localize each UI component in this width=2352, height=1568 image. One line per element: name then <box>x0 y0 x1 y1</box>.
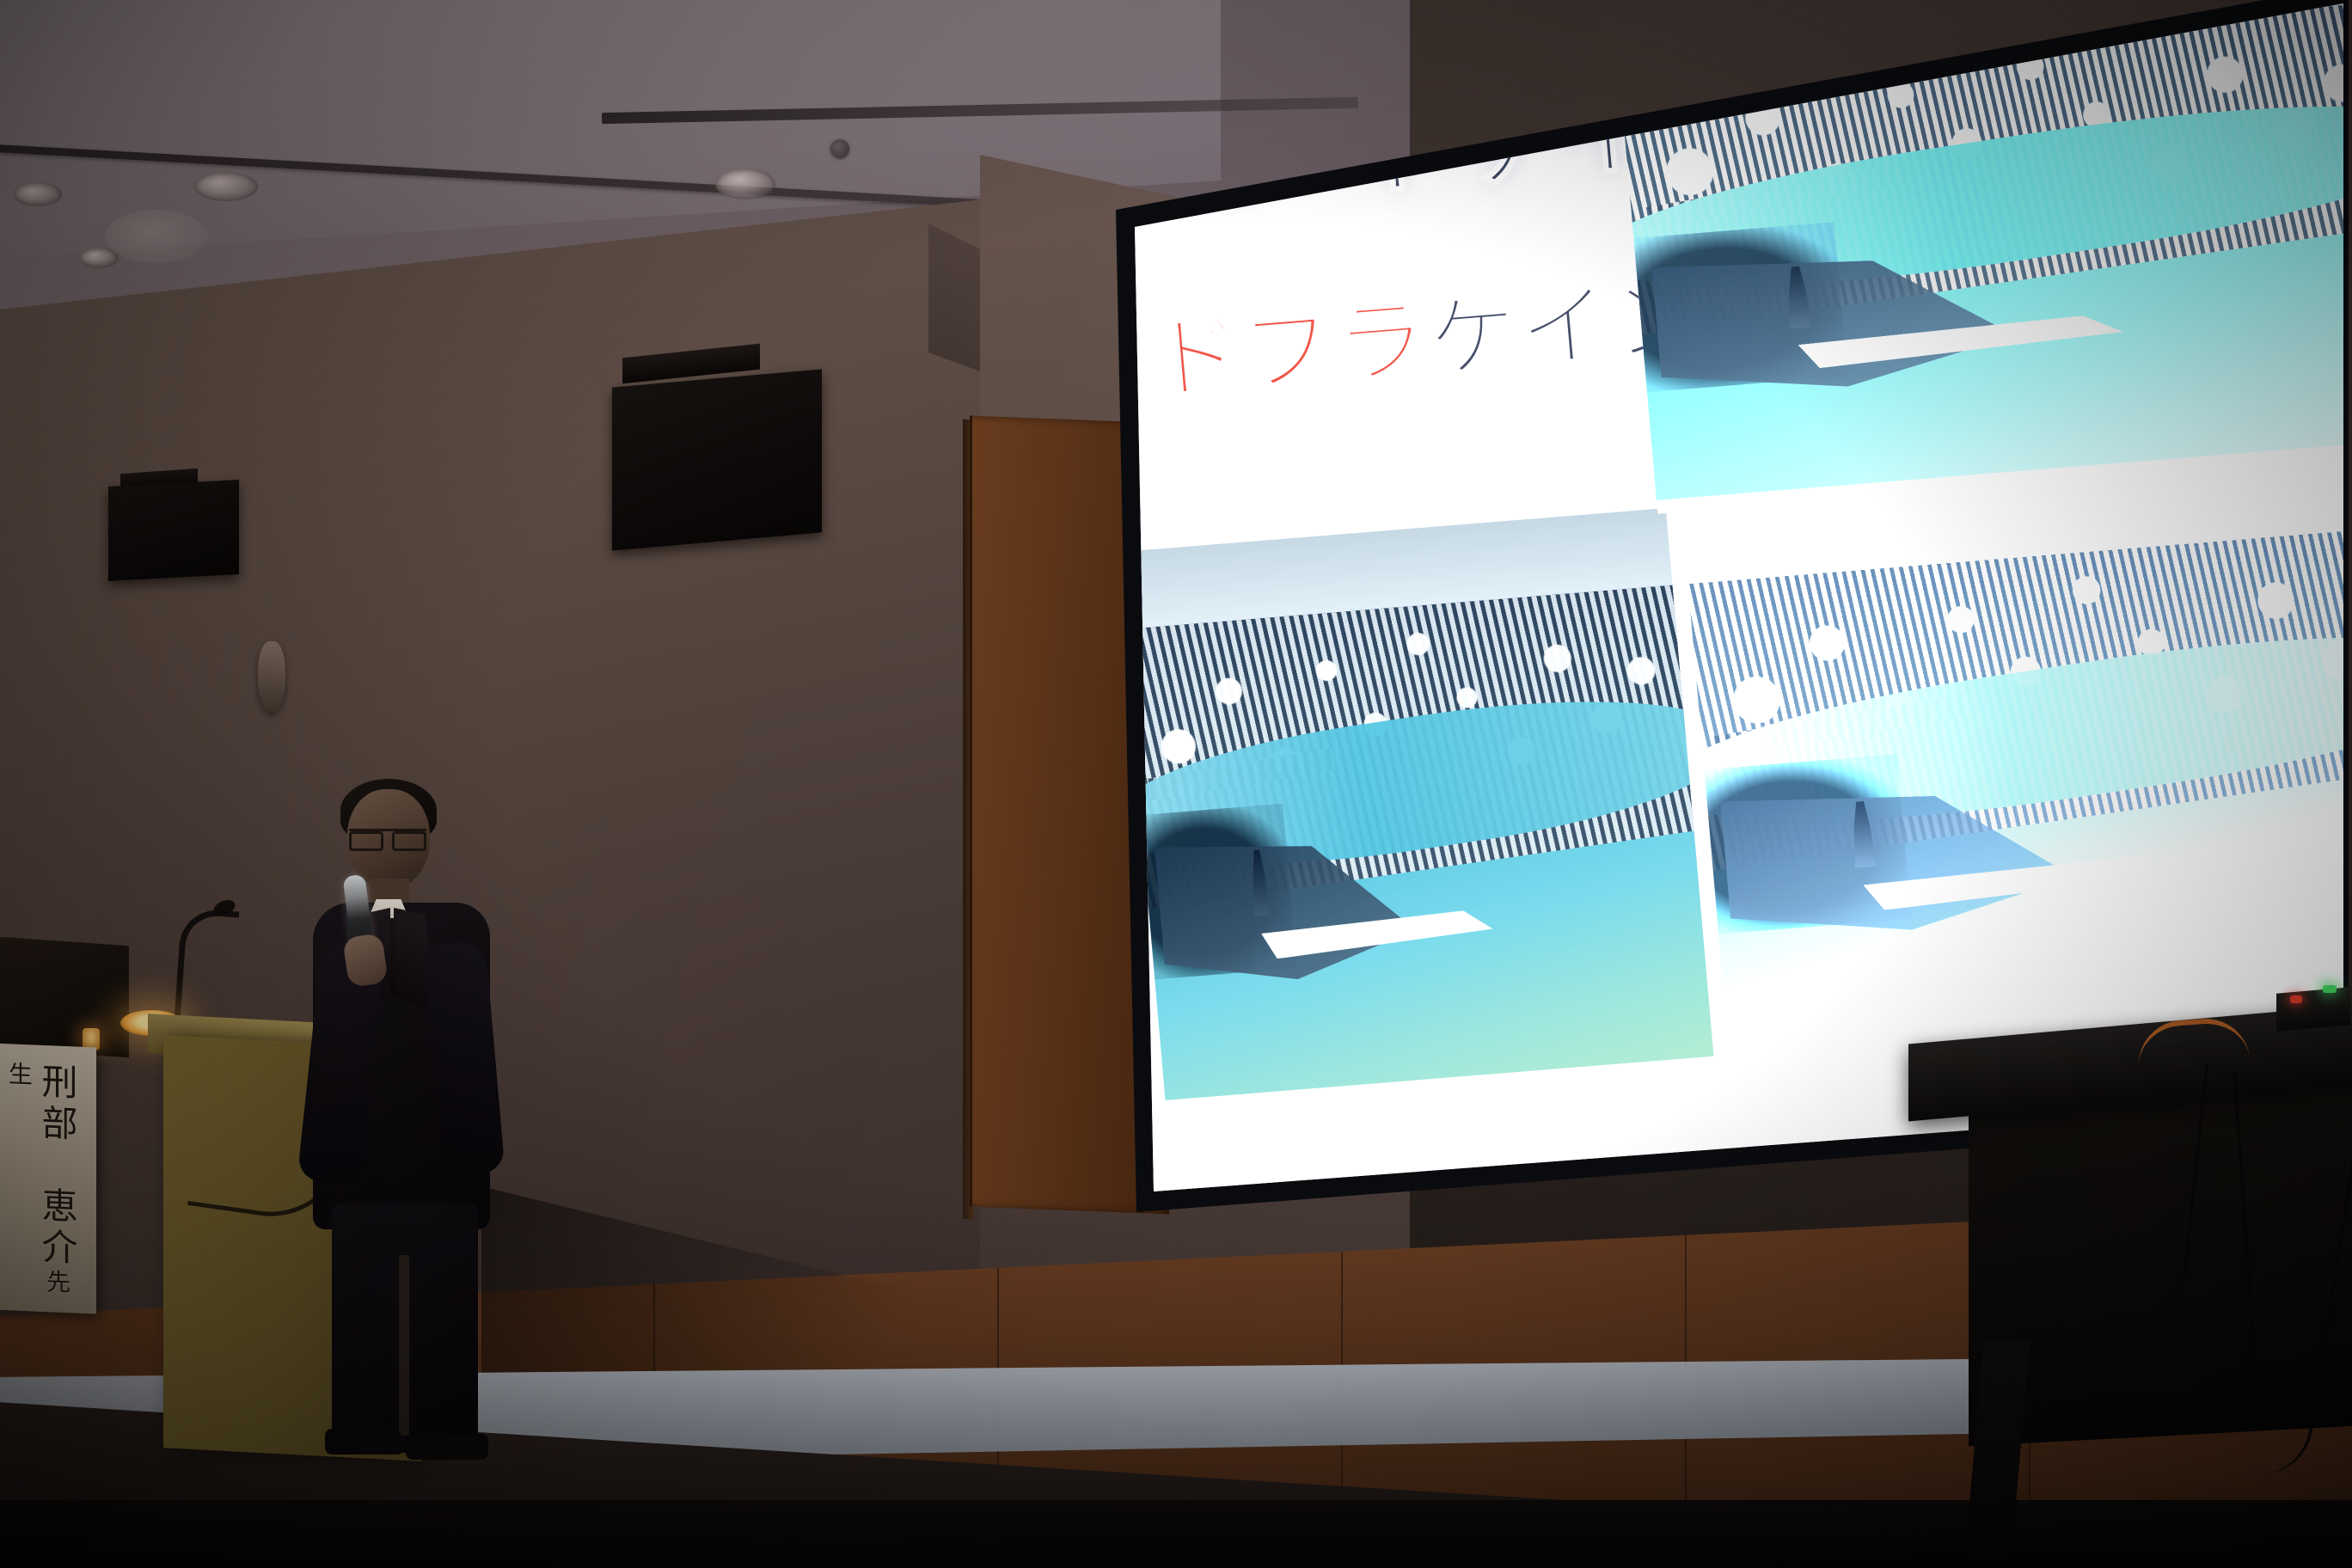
sprinkler-head-icon <box>830 139 849 158</box>
back-wall <box>0 189 1075 1324</box>
emergency-light-icon <box>258 641 285 712</box>
slide-subtitle-red: ドプラ <box>1146 289 1432 413</box>
recessed-downlight-icon <box>715 168 775 199</box>
name-placard-text: 刑部 恵介先生 <box>15 1062 76 1305</box>
wall-speaker-left <box>108 480 239 581</box>
placard-name: 刑部 恵介 <box>36 1063 78 1271</box>
lecture-hall-photo: Bモードゲイン ドプラゲイン <box>0 0 2352 1568</box>
recessed-downlight-icon <box>194 172 258 201</box>
presenter-shoe-left <box>325 1429 404 1455</box>
wall-speaker-right <box>612 369 822 550</box>
av-control-unit[interactable] <box>2276 987 2350 1032</box>
slide-photo-bottom-left <box>1118 508 1714 1100</box>
slide-photo-bottom-right <box>1680 447 2352 1056</box>
ceiling-vent-icon <box>105 210 208 263</box>
presenter <box>284 774 516 1461</box>
glasses-icon <box>349 829 426 847</box>
presenter-shoe-right <box>406 1434 488 1460</box>
slide-photo-top-right <box>1612 0 2352 505</box>
presenter-leg-gap <box>399 1255 409 1436</box>
status-led-red <box>2290 995 2302 1003</box>
recessed-downlight-icon <box>14 182 62 206</box>
podium-monitor <box>0 937 129 1057</box>
status-led-green <box>2323 985 2337 993</box>
